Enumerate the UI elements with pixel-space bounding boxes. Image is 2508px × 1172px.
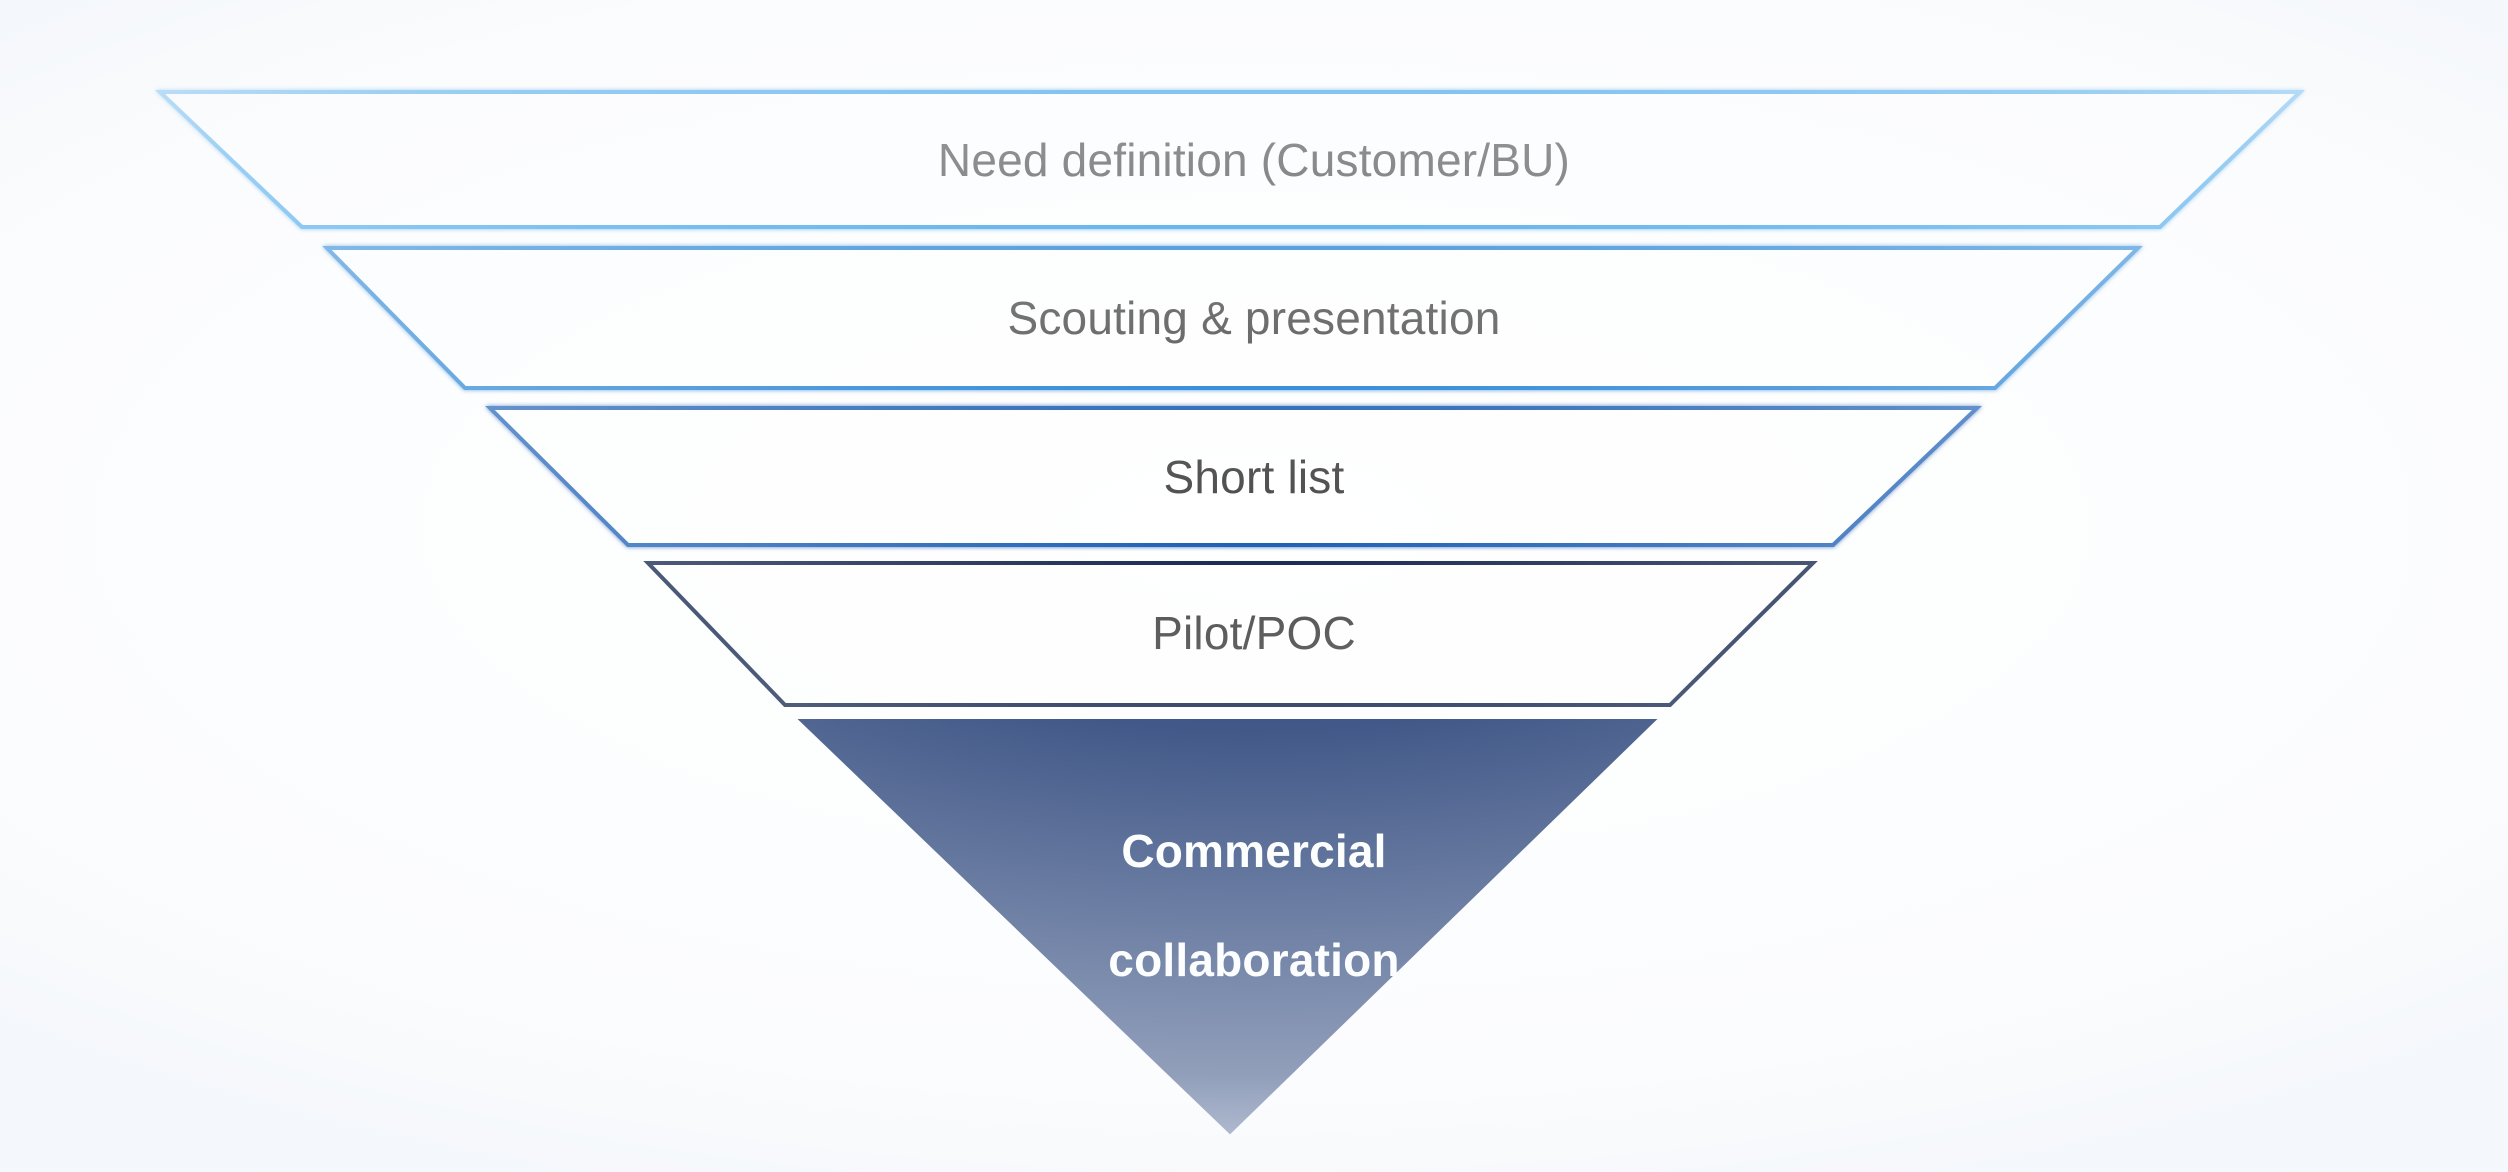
- funnel-label-need-definition: Need definition (Customer/BU): [0, 133, 2508, 187]
- funnel-label-short-list: Short list: [0, 450, 2508, 504]
- funnel-label-pilot-poc: Pilot/POC: [0, 606, 2508, 660]
- funnel-label-commercial-collaboration-line-2: collaboration: [0, 933, 2508, 987]
- funnel-label-scouting-presentation: Scouting & presentation: [0, 291, 2508, 345]
- funnel-diagram-canvas: Need definition (Customer/BU) Scouting &…: [0, 0, 2508, 1172]
- funnel-label-commercial-collaboration: Commercial collaboration: [0, 770, 2508, 1041]
- funnel-label-commercial-collaboration-line-1: Commercial: [0, 824, 2508, 878]
